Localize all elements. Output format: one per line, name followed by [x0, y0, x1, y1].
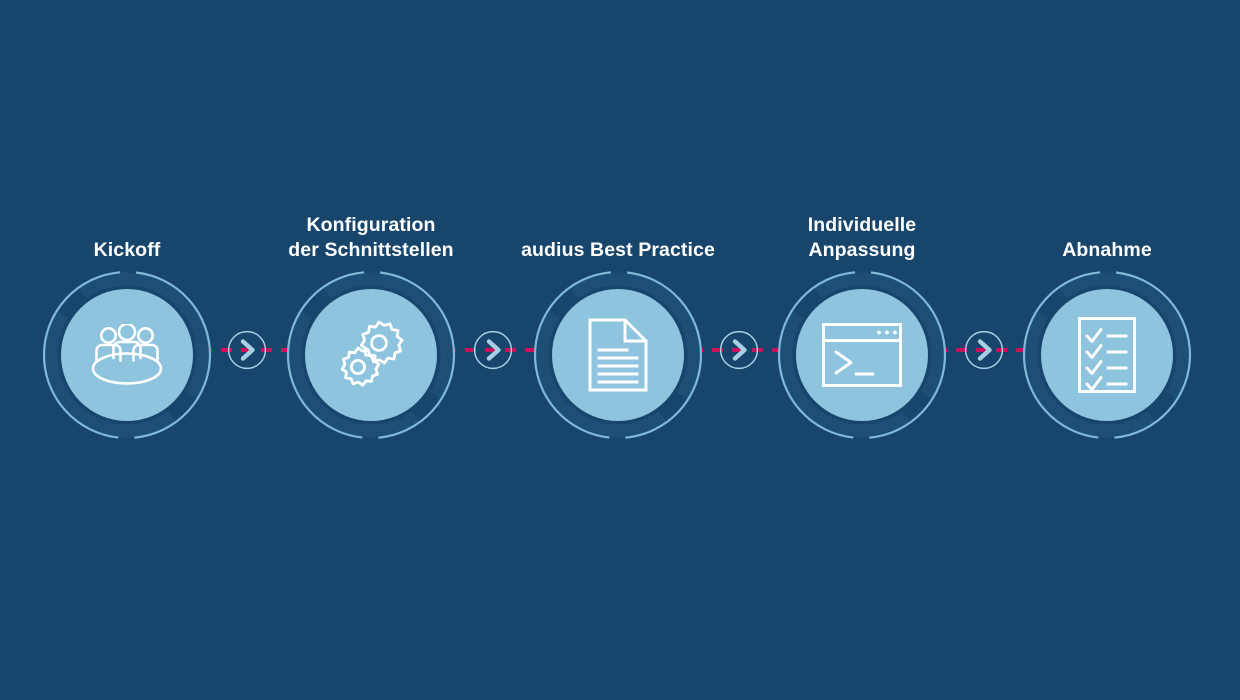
- connector-chevron-right-icon-1[interactable]: [227, 330, 267, 370]
- process-step-5[interactable]: Abnahme: [1024, 272, 1190, 438]
- process-step-2[interactable]: Konfiguration der Schnittstellen: [288, 272, 454, 438]
- connector-chevron-right-icon-3[interactable]: [719, 330, 759, 370]
- gears-icon: [288, 272, 454, 438]
- connector-chevron-right-icon-2[interactable]: [473, 330, 513, 370]
- process-step-4[interactable]: Individuelle Anpassung: [779, 272, 945, 438]
- terminal-window-icon: [779, 272, 945, 438]
- people-meeting-icon: [44, 272, 210, 438]
- process-step-1[interactable]: Kickoff: [44, 272, 210, 438]
- process-step-5-label: Abnahme: [942, 238, 1240, 263]
- checklist-icon: [1024, 272, 1190, 438]
- connector-chevron-right-icon-4[interactable]: [964, 330, 1004, 370]
- document-icon: [535, 272, 701, 438]
- process-step-3[interactable]: audius Best Practice: [535, 272, 701, 438]
- process-flow-diagram: Kickoff Konfiguration der Schnittstellen: [0, 0, 1240, 700]
